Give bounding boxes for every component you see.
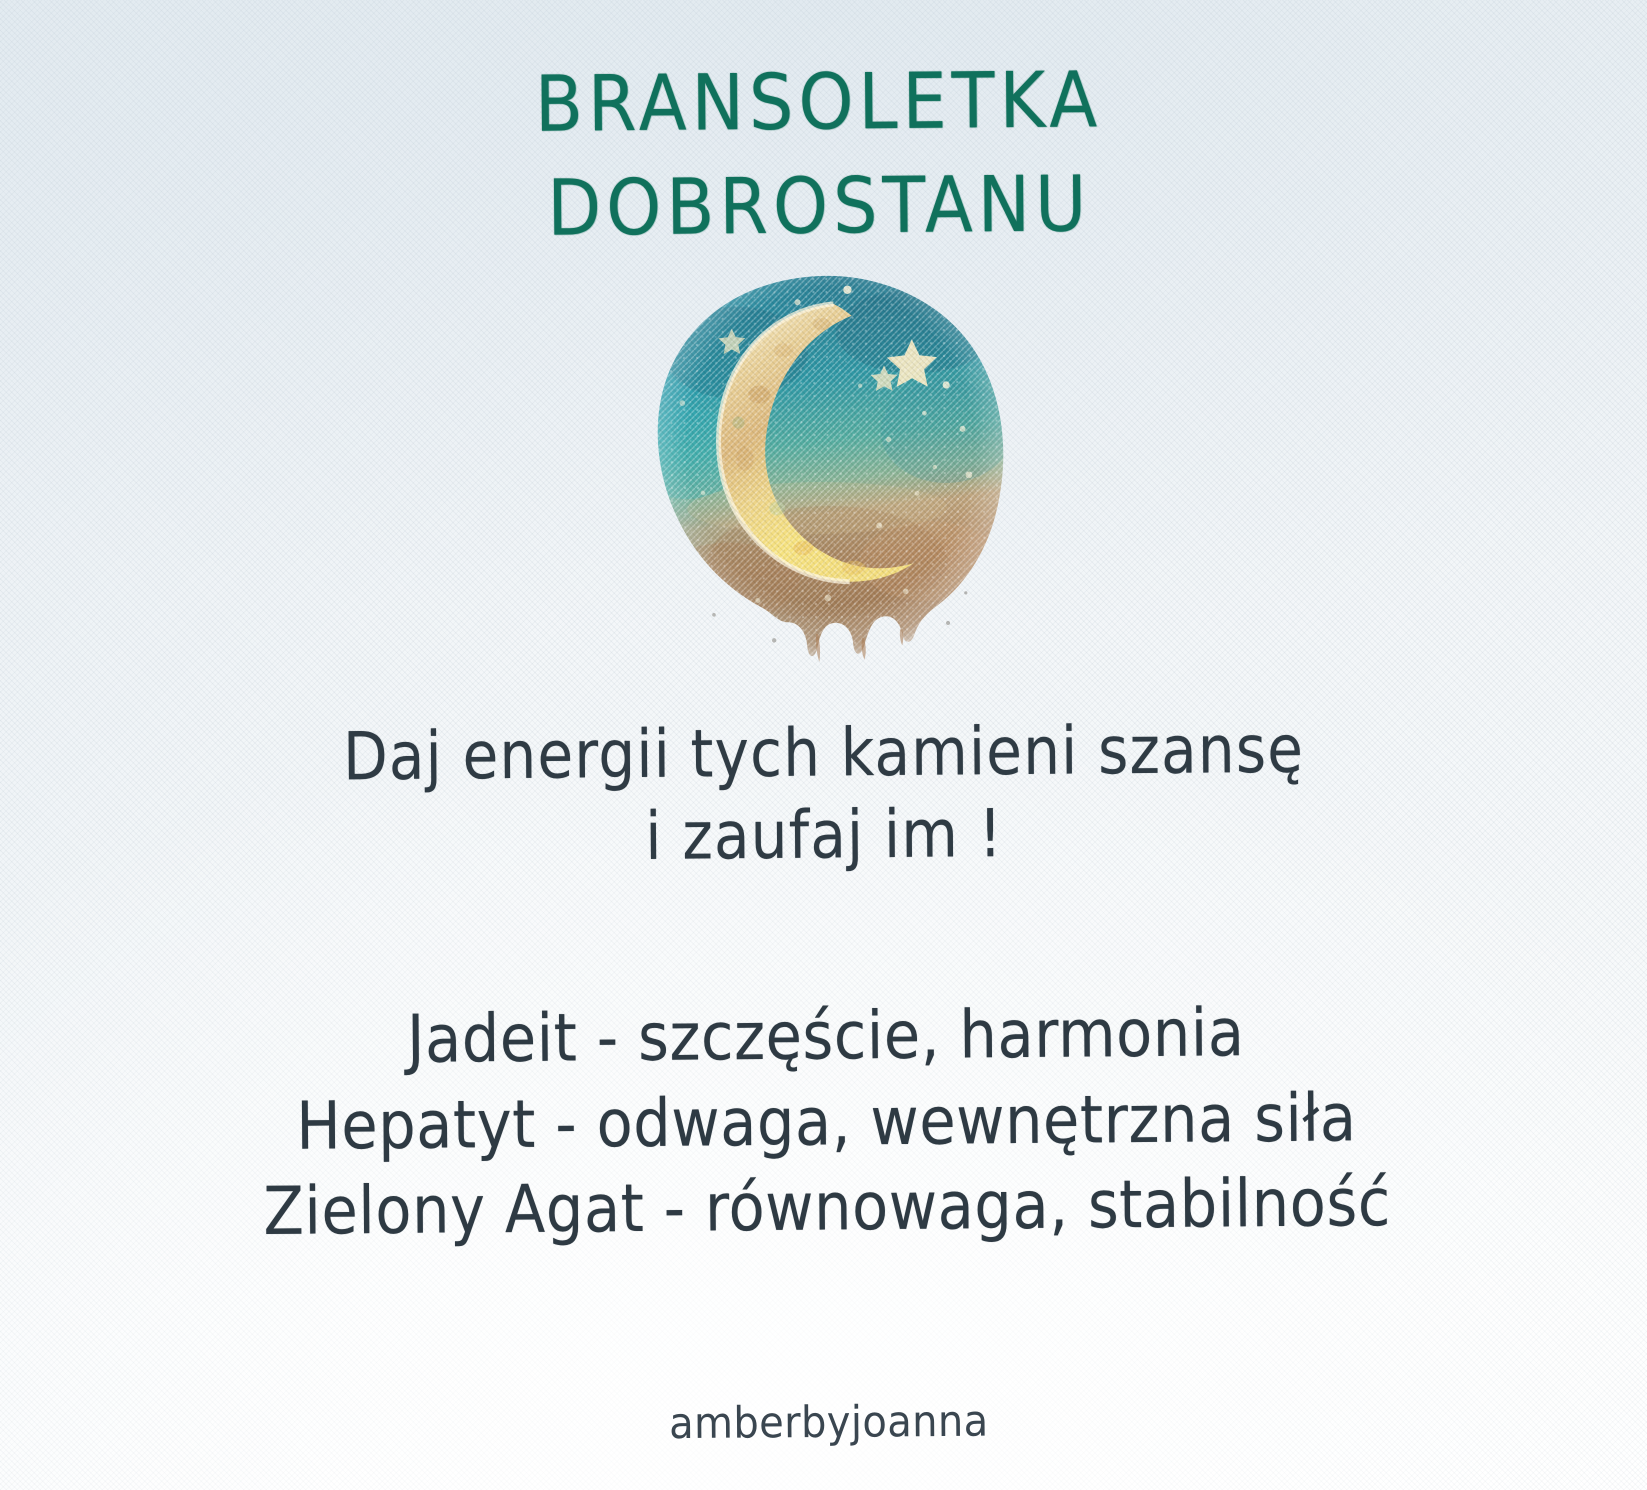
moon-illustration	[615, 260, 1028, 663]
crescent-moon-icon	[615, 260, 1028, 663]
quote-line-2: i zaufaj im !	[0, 782, 1647, 889]
page-title: BRANSOLETKA DOBROSTANU	[0, 40, 1643, 260]
title-line-2: DOBROSTANU	[0, 143, 1643, 270]
signature-text: amberbyjoanna	[5, 1392, 1647, 1455]
product-info-card: BRANSOLETKA DOBROSTANU	[0, 0, 1647, 1490]
stone-meanings-list: Jadeit - szczęście, harmonia Hepatyt - o…	[2, 982, 1647, 1252]
quote: Daj energii tych kamieni szansę i zaufaj…	[0, 700, 1647, 878]
brand-signature: amberbyjoanna	[5, 1392, 1647, 1451]
card-content: BRANSOLETKA DOBROSTANU	[0, 0, 1647, 1490]
stone-item-zielony-agat: Zielony Agat - równowaga, stabilność	[3, 1153, 1647, 1262]
